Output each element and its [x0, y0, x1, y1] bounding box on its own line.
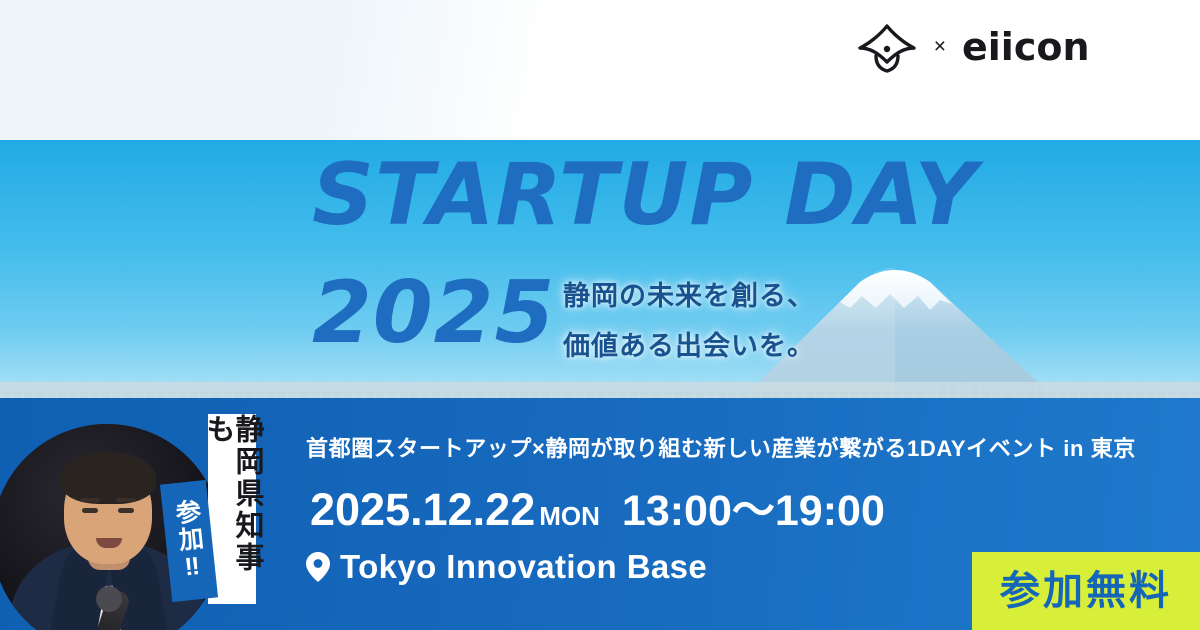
svg-text:eiicon: eiicon — [962, 26, 1090, 69]
event-date: 2025.12.22 — [310, 487, 535, 532]
portrait-eye-left — [82, 508, 98, 513]
portrait-brow-right — [116, 498, 136, 502]
event-time: 13:00〜19:00 — [622, 490, 885, 533]
headline-line-2: STARTUP DAY — [312, 152, 978, 238]
event-banner: × eiicon SHIZUOKA STARTUP DAY 2025 静岡の未来… — [0, 0, 1200, 630]
logo-cross-icon: × — [934, 36, 946, 61]
map-pin-icon — [306, 552, 330, 582]
venue-name: Tokyo Innovation Base — [340, 548, 707, 586]
free-admission-badge: 参加無料 — [972, 552, 1200, 630]
join-badge-label: 参加‼ — [172, 498, 206, 584]
portrait-eye-right — [118, 508, 134, 513]
tagline-line-1: 静岡の未来を創る、 — [563, 272, 815, 322]
free-admission-label: 参加無料 — [1000, 571, 1172, 611]
sub-copy: 首都圏スタートアップ×静岡が取り組む新しい産業が繋がる1DAYイベント in 東… — [306, 431, 1136, 463]
headline-line-3: 2025 — [312, 270, 555, 356]
shizuoka-startup-mark-icon — [856, 22, 918, 74]
tagline: 静岡の未来を創る、 価値ある出会いを。 — [563, 272, 815, 372]
venue-line: Tokyo Innovation Base — [306, 548, 707, 586]
logo-group: × eiicon — [856, 22, 1162, 74]
event-day-of-week: MON — [539, 503, 600, 529]
schedule-line: 2025.12.22 MON 13:00〜19:00 — [310, 487, 885, 533]
tagline-line-2: 価値ある出会いを。 — [563, 322, 815, 372]
eiicon-logo: eiicon — [962, 26, 1162, 70]
portrait-hair — [60, 452, 156, 504]
portrait-brow-left — [80, 498, 100, 502]
